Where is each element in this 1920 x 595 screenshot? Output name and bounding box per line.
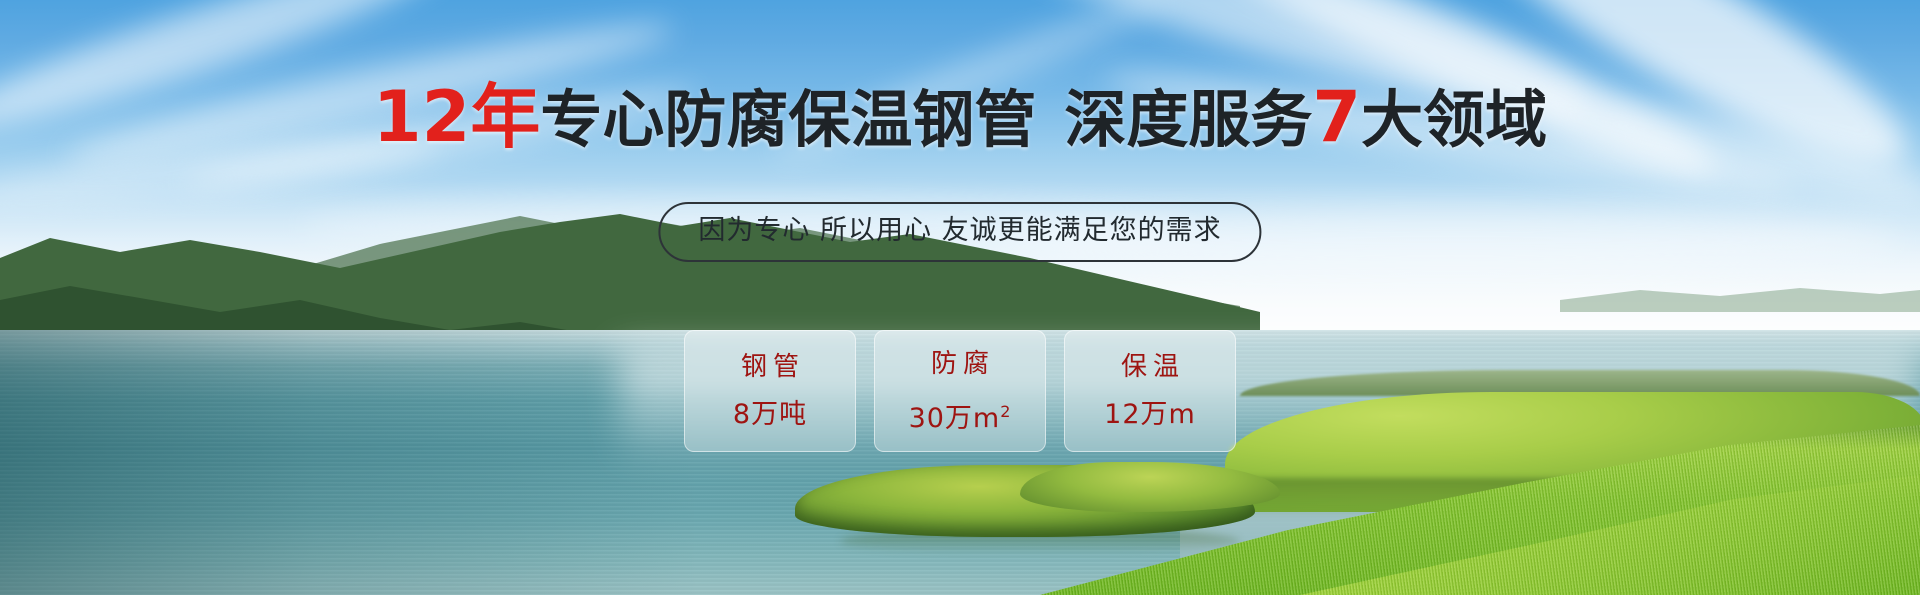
stat-card-insulation: 保温 12万m bbox=[1064, 330, 1236, 452]
headline-count: 7 bbox=[1312, 76, 1361, 158]
stat-card-anticorrosion: 防腐 30万m2 bbox=[874, 330, 1046, 452]
stat-card-title: 防腐 bbox=[925, 348, 995, 380]
stat-card-list: 钢管 8万吨 防腐 30万m2 保温 12万m bbox=[684, 330, 1236, 452]
headline-main: 专心防腐保温钢管 bbox=[540, 83, 1036, 156]
stat-card-value: 30万m2 bbox=[909, 396, 1012, 435]
subtitle-pill: 因为专心 所以用心 友诚更能满足您的需求 bbox=[658, 202, 1261, 262]
stat-value-text: 8万吨 bbox=[733, 399, 807, 430]
stat-card-value: 8万吨 bbox=[733, 399, 807, 431]
headline-years: 12年 bbox=[373, 76, 540, 158]
headline-service: 深度服务 bbox=[1064, 83, 1312, 156]
banner-content: 12年专心防腐保温钢管深度服务7大领域 因为专心 所以用心 友诚更能满足您的需求… bbox=[0, 0, 1920, 595]
stat-value-text: 30万m bbox=[909, 403, 1001, 434]
promo-banner: 12年专心防腐保温钢管深度服务7大领域 因为专心 所以用心 友诚更能满足您的需求… bbox=[0, 0, 1920, 595]
stat-value-text: 12万m bbox=[1104, 399, 1196, 430]
headline-fields: 大领域 bbox=[1361, 83, 1547, 156]
stat-card-steel-pipe: 钢管 8万吨 bbox=[684, 330, 856, 452]
stat-card-title: 钢管 bbox=[735, 351, 805, 383]
stat-card-title: 保温 bbox=[1115, 351, 1185, 383]
stat-card-value: 12万m bbox=[1104, 399, 1196, 431]
stat-value-superscript: 2 bbox=[1000, 402, 1011, 421]
headline: 12年专心防腐保温钢管深度服务7大领域 bbox=[0, 82, 1920, 155]
